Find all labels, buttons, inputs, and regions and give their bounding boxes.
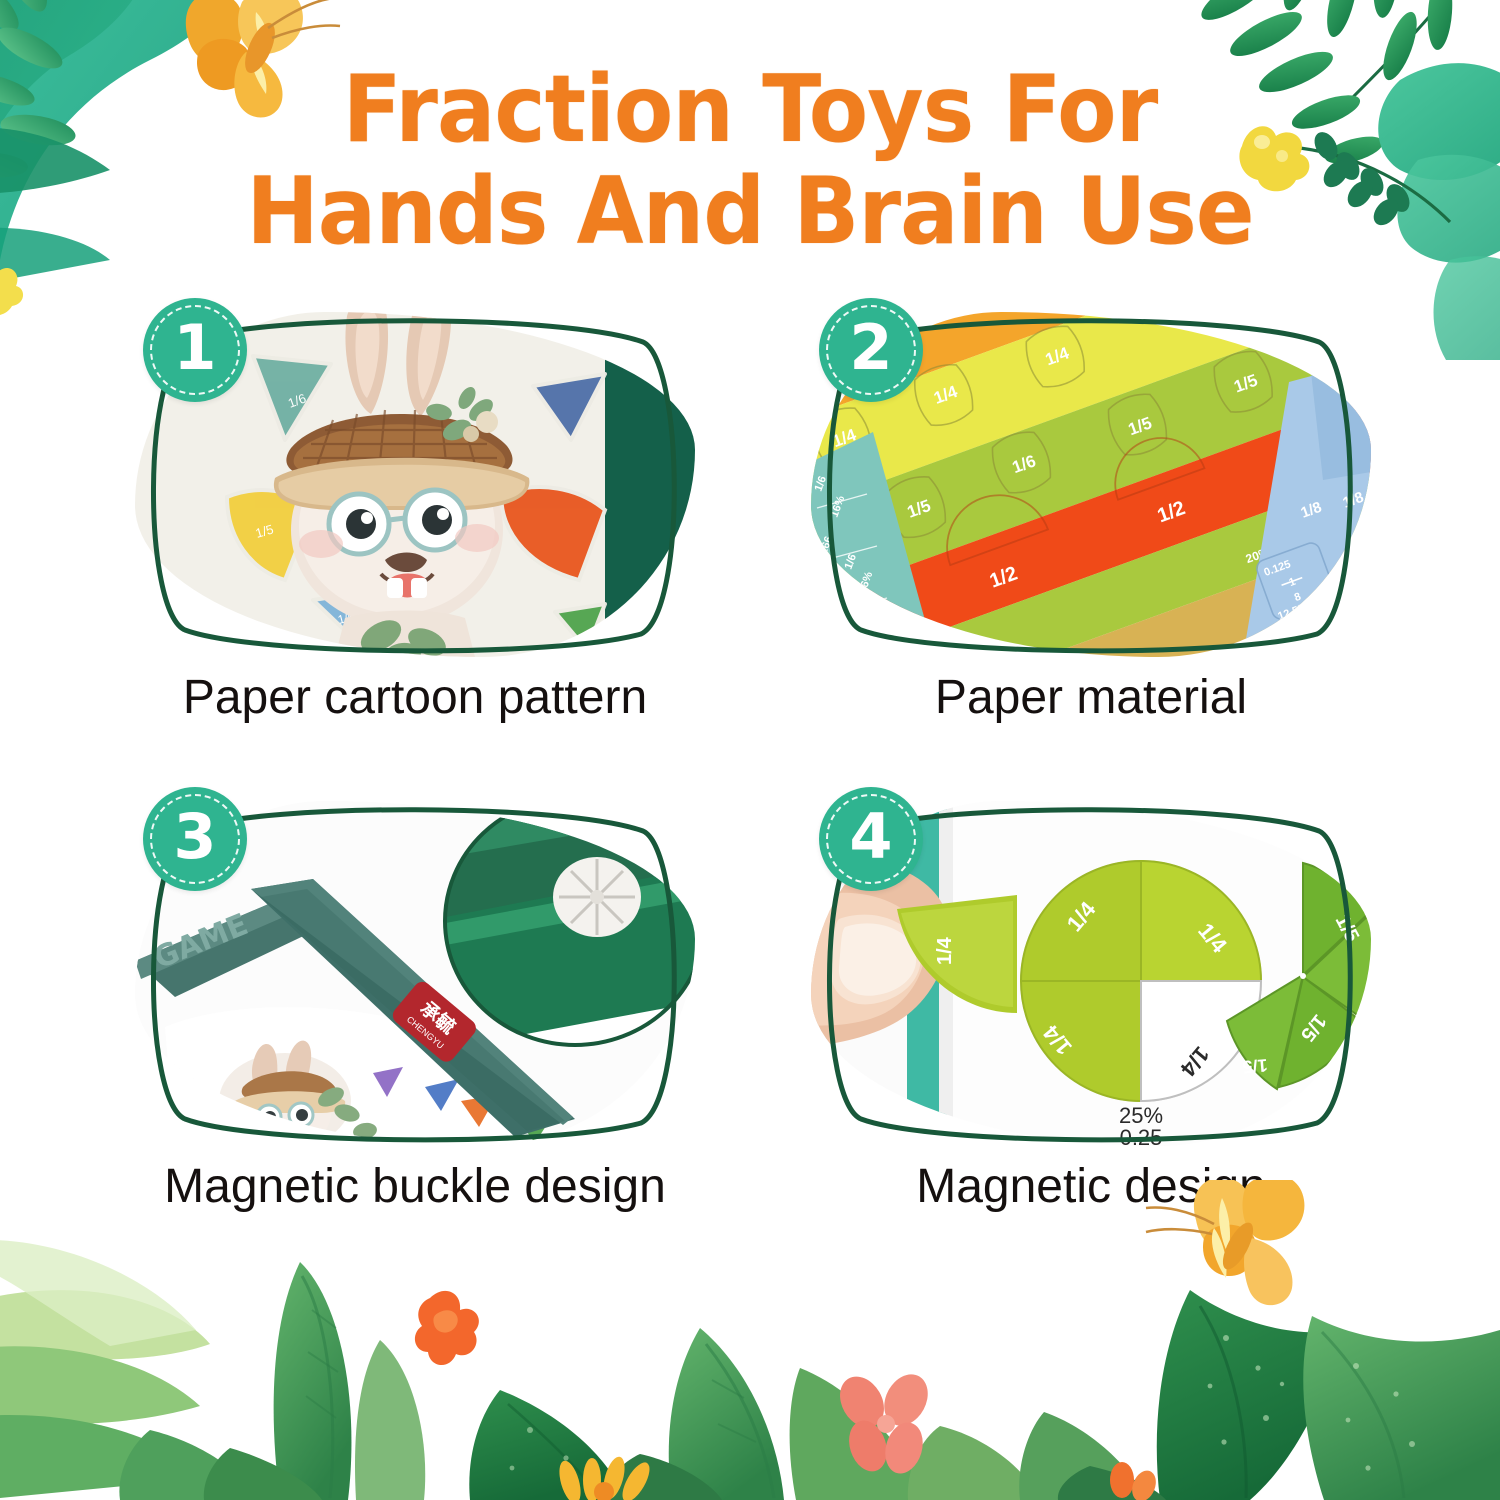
feature-card-3[interactable]: GAME <box>108 801 722 1252</box>
flower-salmon-center <box>831 1367 936 1478</box>
card-3-caption: Magnetic buckle design <box>108 1159 722 1215</box>
card-2-frame: 1/4 1/4 1/4 1/5 1/6 1/5 1/5 1/6 1/2 1/2 <box>811 312 1371 657</box>
card-2-number: 2 <box>849 317 892 379</box>
card-3-number: 3 <box>173 806 216 868</box>
card-3-number-badge: 3 <box>143 787 247 891</box>
flower-yellow-bottom <box>555 1454 655 1500</box>
card-1-frame: 1/6 1/5 1/6 <box>135 312 695 657</box>
page-title: Fraction Toys For Hands And Brain Use <box>0 58 1500 262</box>
page-title-line-1: Fraction Toys For <box>53 58 1448 160</box>
infographic-root: Fraction Toys For Hands And Brain Use 1/… <box>0 0 1500 1500</box>
feature-card-1[interactable]: 1/6 1/5 1/6 <box>108 312 722 763</box>
card-1-caption: Paper cartoon pattern <box>108 670 722 726</box>
card-4-number: 4 <box>849 806 892 868</box>
card-4-number-badge: 4 <box>819 787 923 891</box>
card-1-number-badge: 1 <box>143 298 247 402</box>
card-4-caption: Magnetic design <box>784 1159 1398 1215</box>
flower-orange-left <box>415 1291 479 1365</box>
card-1-number: 1 <box>173 317 216 379</box>
flower-orange-right <box>1110 1462 1160 1500</box>
card-4-frame: 1/4 1/4 1/4 1/4 1/4 <box>811 801 1371 1146</box>
feature-card-4[interactable]: 1/4 1/4 1/4 1/4 1/4 <box>784 801 1398 1252</box>
feature-card-2[interactable]: 1/4 1/4 1/4 1/5 1/6 1/5 1/5 1/6 1/2 1/2 <box>784 312 1398 763</box>
card-2-caption: Paper material <box>784 670 1398 726</box>
feature-card-grid: 1/6 1/5 1/6 <box>108 312 1398 1252</box>
page-title-line-2: Hands And Brain Use <box>53 160 1448 262</box>
card-3-frame: GAME <box>135 801 695 1146</box>
card-2-number-badge: 2 <box>819 298 923 402</box>
